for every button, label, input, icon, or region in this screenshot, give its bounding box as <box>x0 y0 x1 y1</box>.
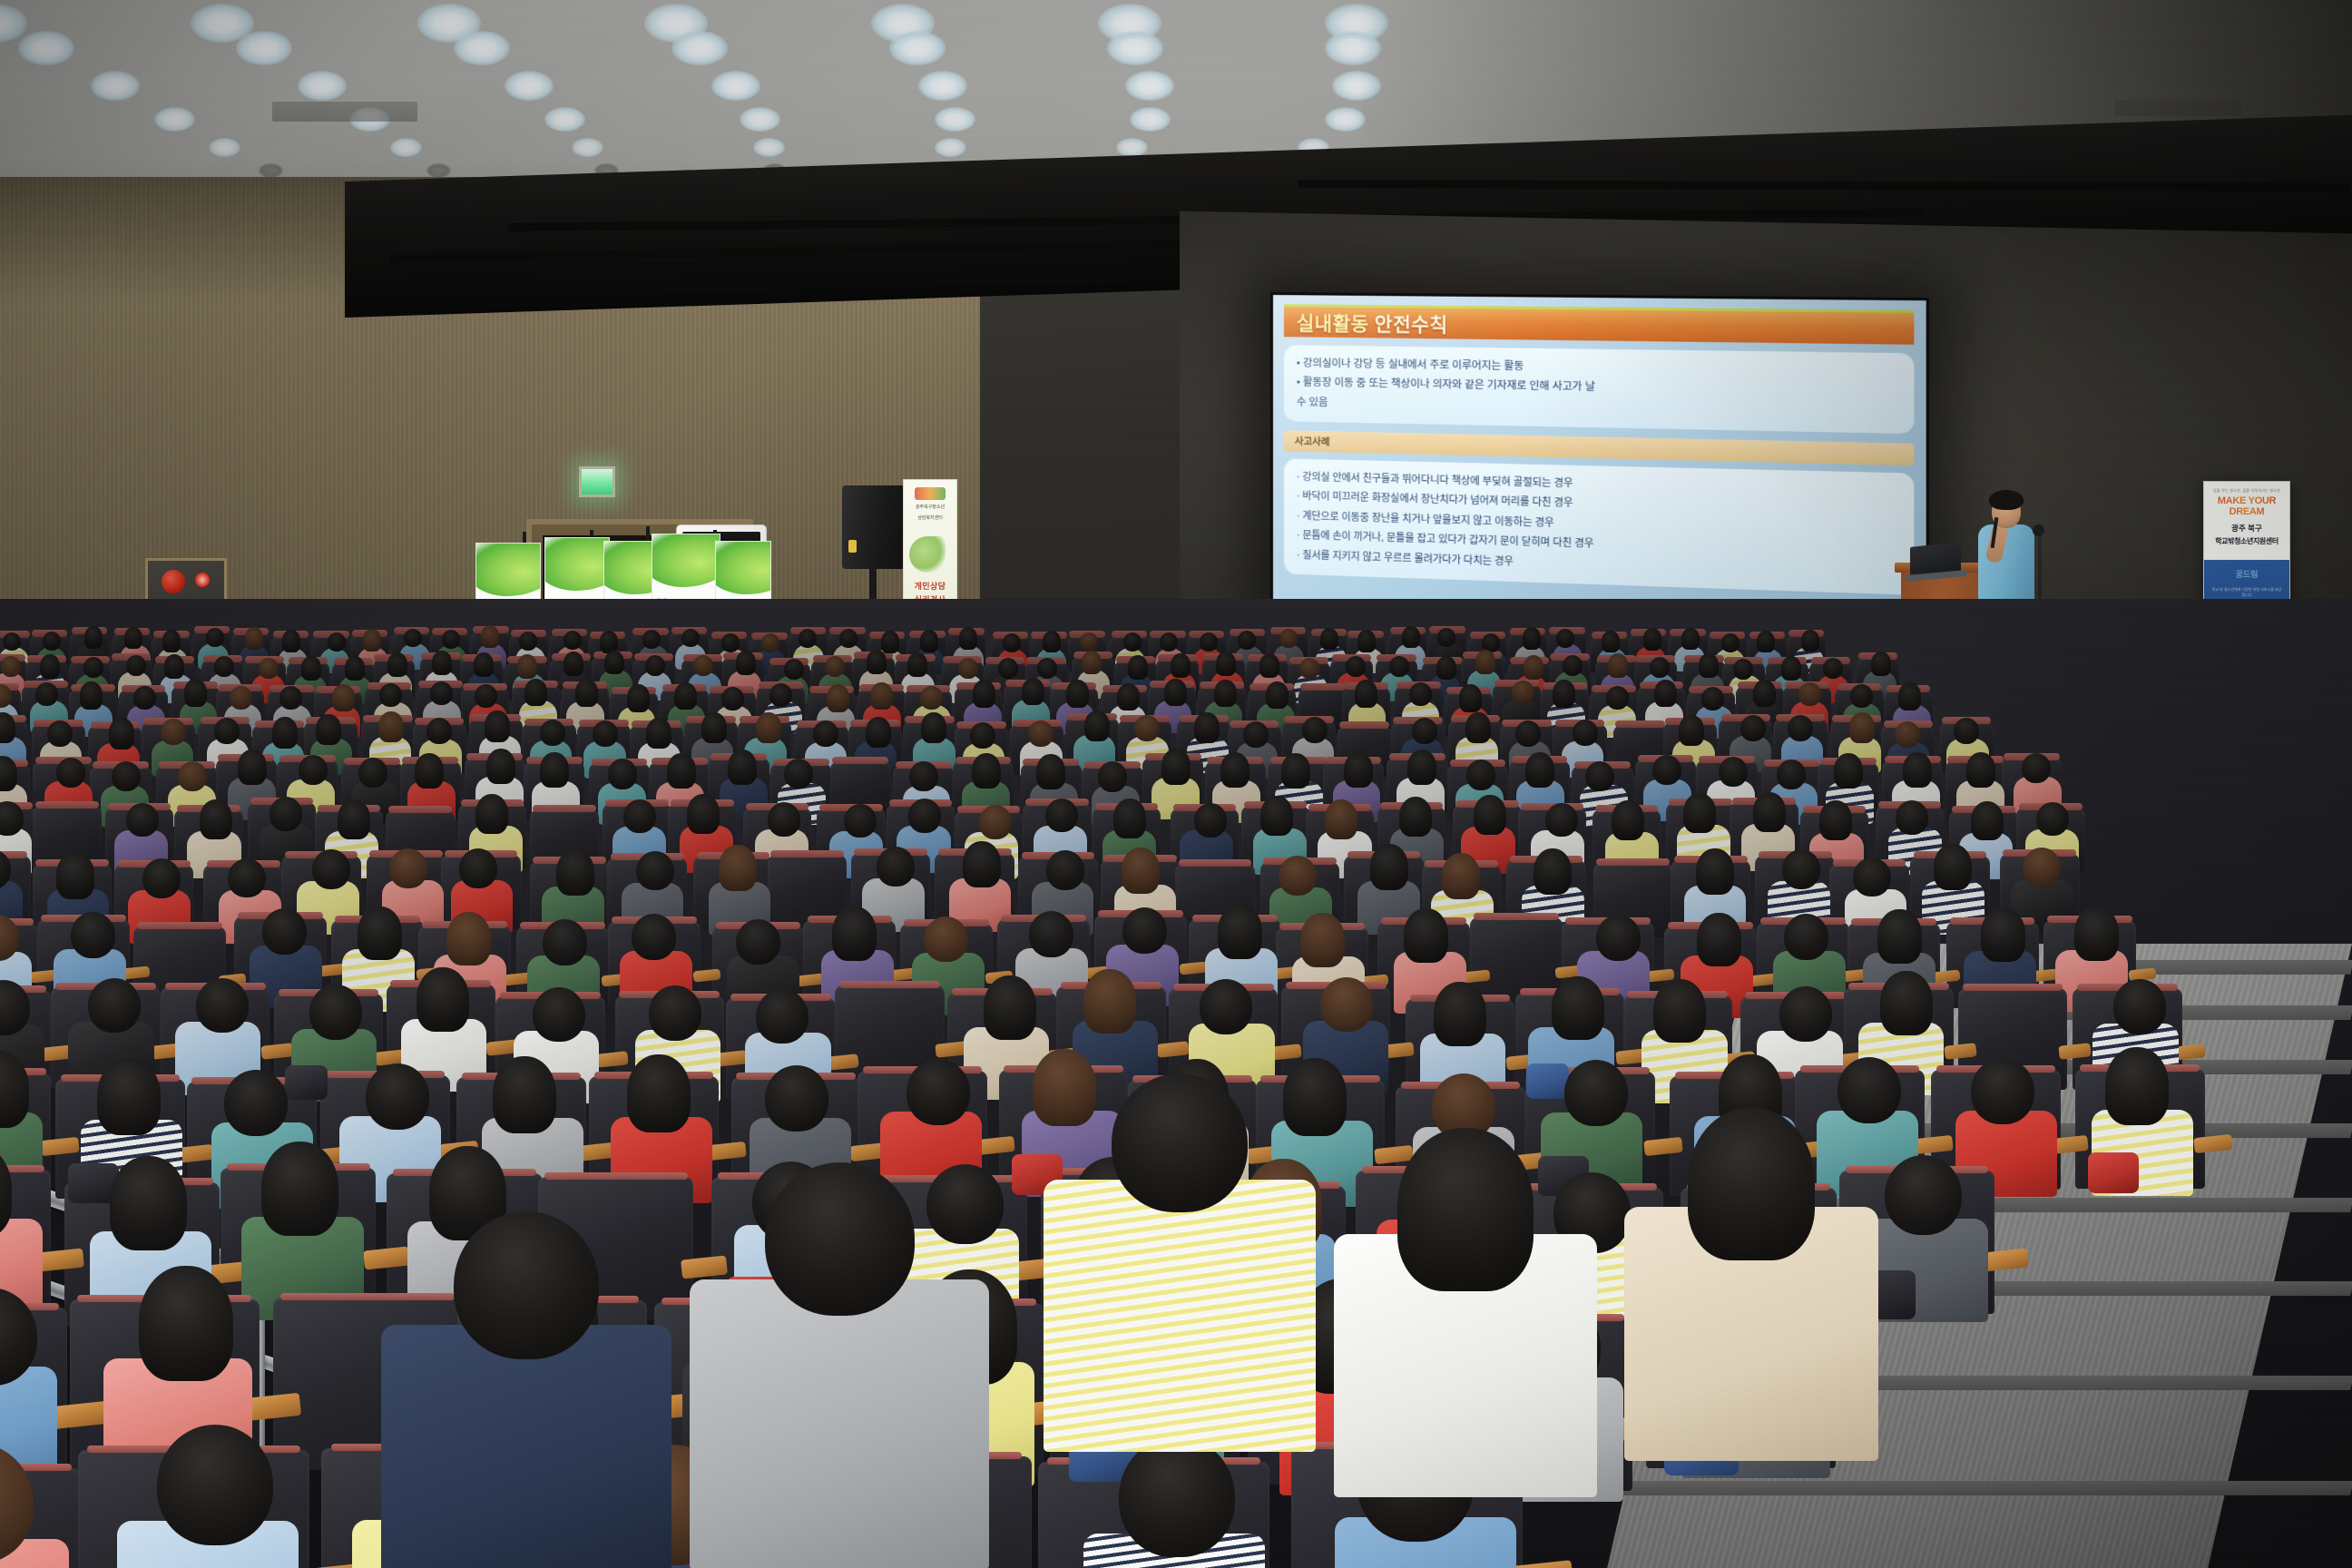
ceiling-light <box>236 31 292 65</box>
audience-member-head <box>972 753 1001 789</box>
banner-tagline: 꿈을 꾸는 청소년, 꿈을 이루어가는 청소년 <box>2204 488 2289 494</box>
microphone-head-icon <box>2033 524 2044 536</box>
audience-member-head <box>378 711 404 742</box>
audience-member-head <box>1243 721 1269 748</box>
banner-header-section: 꿈을 꾸는 청소년, 꿈을 이루어가는 청소년 MAKE YOUR DREAM … <box>2204 482 2289 560</box>
fire-strobe-light-icon <box>195 573 210 587</box>
audience-member-head <box>674 682 697 710</box>
audience-member-head <box>1082 651 1102 675</box>
audience-member-head <box>1585 761 1614 791</box>
audience-member-head <box>1066 680 1089 708</box>
audience-member-head <box>1404 908 1448 963</box>
audience-member-head <box>1098 761 1127 791</box>
audience-member-head <box>245 627 263 649</box>
audience-member-head <box>1819 800 1852 840</box>
audience-member-head <box>627 1054 691 1132</box>
presenter-hair <box>1989 490 2024 510</box>
audience-member-head <box>1080 632 1098 652</box>
audience-member-head <box>1128 655 1148 680</box>
ceiling-light <box>298 71 347 101</box>
audience-member-head <box>907 652 927 677</box>
audience-member-head <box>563 652 583 676</box>
fire-bell-icon <box>162 570 185 593</box>
audience-member-head <box>1171 653 1191 678</box>
audience-member-head <box>627 684 650 712</box>
audience-member-head <box>1281 753 1310 789</box>
audience-member-head <box>1355 680 1377 708</box>
audience-member-head <box>56 852 94 898</box>
audience-member-head <box>877 847 915 887</box>
audience-member-head <box>1733 659 1753 680</box>
audience-member-head <box>1895 721 1920 748</box>
banner-org-line2: 상담복지센터 <box>908 515 952 522</box>
banner-description: 학교 밖 청소년에게 다양한 지원 서비스를 제공합니다 <box>2211 587 2282 599</box>
audience-member-head <box>1534 848 1572 895</box>
audience-member-head <box>1164 679 1187 707</box>
audience-member-head <box>1123 632 1142 652</box>
audience-member-head <box>921 712 946 743</box>
audience-member-head <box>1320 977 1373 1032</box>
audience-member-head <box>404 629 422 648</box>
audience-member-head <box>345 656 365 681</box>
audience-member-head <box>1412 718 1437 744</box>
ceiling-light <box>544 107 585 132</box>
audience-member-head <box>184 679 207 707</box>
audience-member-head <box>1552 976 1604 1041</box>
front-student-navy-head <box>454 1211 599 1359</box>
banner-org-line1: 광주 북구 <box>2204 523 2289 534</box>
banner-swoosh-graphic <box>475 543 541 596</box>
audience-member-head <box>2113 979 2166 1034</box>
front-student-gray-head <box>765 1162 915 1315</box>
audience-member-head <box>533 987 585 1042</box>
audience-member-head <box>825 656 845 677</box>
audience-member-head <box>1344 752 1373 788</box>
audience-member-head <box>1683 793 1716 833</box>
audience-member-head <box>206 628 224 647</box>
audience-member-head <box>485 710 510 741</box>
banner-logo-icon <box>915 487 946 500</box>
banner-service-item: 개인상담 <box>904 580 956 593</box>
audience-member-head <box>1784 914 1828 960</box>
projection-screen: 실내활동 안전수칙 • 강의실이나 강당 등 실내에서 주로 이루어지는 활동 … <box>1270 292 1929 639</box>
audience-member-head <box>481 625 499 647</box>
audience-member-head <box>1216 652 1236 676</box>
audience-member-head <box>1545 803 1578 837</box>
banner-section-title: 꿈드림 <box>2211 569 2282 582</box>
audience-member-head <box>2023 848 2061 887</box>
audience-member-head <box>493 1056 556 1133</box>
audience-member-head <box>881 631 899 652</box>
audience-member-head <box>1220 752 1249 788</box>
audience-member-head <box>363 629 381 651</box>
audience-member-head <box>1971 1058 2034 1124</box>
ceiling-light <box>935 107 975 132</box>
audience-member-head <box>161 719 186 745</box>
audience-member-head <box>2022 753 2051 783</box>
audience-member-head <box>164 654 184 679</box>
audience-member-head <box>1320 628 1338 650</box>
front-student-striped-torso <box>1044 1180 1316 1452</box>
audience-member-head <box>1161 749 1191 784</box>
audience-member-head <box>1299 658 1319 679</box>
banner-swoosh-graphic <box>715 541 771 594</box>
banner-org-line2: 학교밖청소년지원센터 <box>2204 536 2289 546</box>
audience-member-head <box>906 1059 970 1125</box>
audience-member-head <box>728 750 757 785</box>
banner-swoosh-graphic <box>603 541 656 594</box>
audience-member-head <box>984 975 1036 1040</box>
audience-member-head <box>687 794 720 834</box>
audience-member-head <box>1981 907 2025 962</box>
audience-member-head <box>832 906 877 961</box>
audience-member-head <box>84 626 103 648</box>
front-student-gray-torso <box>690 1279 989 1568</box>
audience-member-head <box>379 683 402 707</box>
ceiling-light <box>1125 71 1174 101</box>
audience-member-head <box>272 717 298 748</box>
audience-member-head <box>43 632 61 651</box>
ceiling-light <box>505 71 554 101</box>
audience-member-head <box>224 1070 288 1136</box>
audience-member-head <box>1402 626 1420 648</box>
audience-member-head <box>540 720 565 746</box>
slide-subheader-label: 사고사례 <box>1295 434 1330 448</box>
audience-member-head <box>332 684 355 712</box>
audience-member-head <box>813 720 838 747</box>
audience-member-head <box>1122 848 1160 894</box>
audience-member-head <box>1119 1436 1235 1557</box>
audience-member-head <box>1801 630 1819 652</box>
audience-member-head <box>1134 715 1160 741</box>
audience-member-head <box>200 799 232 839</box>
slide-intro-card: • 강의실이나 강당 등 실내에서 주로 이루어지는 활동 • 활동장 이동 중… <box>1284 345 1914 434</box>
auditorium-scene: 실내활동 안전수칙 • 강의실이나 강당 등 실내에서 주로 이루어지는 활동 … <box>0 0 2352 1568</box>
audience-member-head <box>1697 913 1741 967</box>
audience-member-head <box>979 805 1012 838</box>
audience-member-head <box>649 985 701 1040</box>
slide-title: 실내활동 안전수칙 <box>1297 309 1448 338</box>
audience-member-head <box>924 916 968 963</box>
audience-member-head <box>519 632 537 651</box>
audience-member-head <box>162 630 181 652</box>
audience-member-head <box>1029 911 1073 957</box>
audience-member-head <box>1459 684 1482 712</box>
audience-member-head <box>926 1164 1004 1244</box>
audience-member-head <box>721 633 740 652</box>
audience-member-head <box>133 686 156 710</box>
speaker-led-icon <box>848 540 857 553</box>
audience-member-head <box>1442 853 1480 899</box>
audience-member-head <box>1652 755 1681 785</box>
audience-member-head <box>1214 680 1237 708</box>
audience-member-head <box>736 919 780 965</box>
audience-member-head <box>1954 718 1979 744</box>
audience-member-head <box>623 799 656 833</box>
audience-member-head <box>1475 650 1495 674</box>
audience-member-head <box>604 651 624 675</box>
audience-member-head <box>1850 684 1873 708</box>
audience-member-head <box>446 912 491 966</box>
audience-member-head <box>1434 982 1486 1046</box>
audience-member-head <box>1556 629 1574 648</box>
audience-member-head <box>1043 631 1061 652</box>
audience-member-head <box>1681 628 1700 650</box>
audience-member-head <box>870 682 893 710</box>
audience-member-head <box>756 712 781 743</box>
audience-member-head <box>230 686 252 710</box>
audience-member-head <box>301 656 321 681</box>
audience-member-head <box>1200 979 1252 1034</box>
audience-member-head <box>312 849 350 889</box>
audience-member-head <box>124 627 142 649</box>
audience-member-head <box>83 657 103 678</box>
backpack <box>1526 1063 1569 1098</box>
audience-member-head <box>1083 969 1136 1034</box>
audience-member-head <box>1880 971 1933 1035</box>
audience-member-head <box>1903 752 1932 788</box>
audience-member-head <box>142 858 181 898</box>
audience-member-head <box>1474 795 1506 835</box>
audience-member-head <box>430 681 453 705</box>
audience-member-head <box>299 755 328 785</box>
audience-member-head <box>1117 683 1140 711</box>
audience-member-head <box>958 658 978 679</box>
audience-member-head <box>1608 653 1628 678</box>
audience-member-head <box>1389 656 1409 677</box>
audience-member-head <box>1643 628 1661 650</box>
audience-member-head <box>1409 682 1432 706</box>
audience-member-head <box>1512 681 1534 704</box>
audience-member-head <box>970 722 995 749</box>
pa-speaker <box>842 485 906 569</box>
audience-member-head <box>736 651 756 675</box>
audience-member-head <box>1721 633 1739 652</box>
ceiling-light <box>154 107 195 132</box>
audience-member-head <box>475 684 497 708</box>
audience-member-head <box>524 679 547 707</box>
audience-member-head <box>387 652 407 677</box>
audience-member-head <box>358 758 387 788</box>
audience-member-head <box>867 650 887 674</box>
audience-member-head <box>415 753 444 789</box>
slide-title-bar: 실내활동 안전수칙 <box>1284 304 1914 345</box>
audience-member-head <box>1653 979 1706 1044</box>
audience-member-head <box>56 758 85 788</box>
audience-member-head <box>920 686 943 710</box>
audience-member-head <box>769 683 792 707</box>
audience-member-head <box>1194 803 1227 837</box>
front-student-navy-torso <box>381 1325 671 1568</box>
audience-member-head <box>214 718 240 744</box>
audience-member-head <box>459 848 497 888</box>
audience-member-head <box>973 680 995 708</box>
audience-member-head <box>338 799 370 839</box>
audience-member-head <box>1753 680 1776 708</box>
banner-swoosh-graphic <box>652 534 720 587</box>
leaf-icon <box>909 536 946 573</box>
audience-member-head <box>1407 750 1436 785</box>
audience-member-head <box>1564 1060 1628 1126</box>
audience-member-head <box>1898 682 1921 710</box>
audience-member-head <box>1699 653 1719 678</box>
audience-member-head <box>1046 850 1084 890</box>
audience-member-head <box>328 632 346 652</box>
audience-member-head <box>1037 658 1057 679</box>
front-student-white-head <box>1397 1128 1534 1291</box>
slide-title-rest: 안전수칙 <box>1369 314 1448 336</box>
audience-member-head <box>80 681 103 710</box>
front-student-striped-head <box>1112 1073 1248 1212</box>
audience-member-head <box>909 761 938 791</box>
audience-member-head <box>540 752 569 788</box>
audience-member-head <box>1779 986 1832 1041</box>
audience-member-head <box>1033 1049 1096 1126</box>
audience-member-head <box>600 631 618 652</box>
audience-member-head <box>768 802 800 836</box>
audience-member-head <box>112 761 141 791</box>
audience-member-head <box>47 720 73 747</box>
audience-member-head <box>1696 848 1734 895</box>
audience-member-head <box>196 978 249 1033</box>
audience-member-head <box>2074 906 2119 961</box>
audience-member-head <box>784 659 804 680</box>
ceiling-light <box>889 31 946 65</box>
audience-member-head <box>608 759 637 789</box>
audience-member-head <box>432 651 452 675</box>
audience-member-head <box>269 797 302 830</box>
audience-member-head <box>1465 712 1491 743</box>
audience-member-head <box>1302 717 1328 743</box>
audience-member-head <box>1194 712 1220 743</box>
audience-member-head <box>1553 680 1575 708</box>
ceiling-light <box>18 31 74 65</box>
audience-member-head <box>97 1058 161 1135</box>
audience-member-head <box>1036 754 1065 789</box>
front-student-cream-head <box>1688 1108 1815 1260</box>
audience-member-head <box>1701 687 1724 710</box>
ceiling-light <box>1107 31 1163 65</box>
audience-member-head <box>1885 1155 1962 1235</box>
audience-member-head <box>2105 1047 2169 1124</box>
audience-member-head <box>1218 905 1262 959</box>
audience-member-head <box>157 1425 273 1545</box>
audience-member-head <box>998 658 1018 679</box>
audience-member-head <box>1757 631 1775 652</box>
audience-member-head <box>358 906 402 961</box>
ceiling-light <box>671 31 728 65</box>
audience-member-head <box>261 1142 338 1236</box>
audience-member-head <box>645 655 665 676</box>
audience-member-head <box>1028 720 1053 747</box>
audience-member-head <box>279 686 302 710</box>
audience-member-head <box>316 714 341 745</box>
audience-member-head <box>1436 656 1456 681</box>
audience-member-head <box>88 978 141 1033</box>
audience-member-head <box>563 631 582 650</box>
audience-member-head <box>1437 628 1455 647</box>
audience-member-head <box>238 750 267 785</box>
audience-member-head <box>35 682 58 706</box>
audience-member-head <box>756 989 808 1044</box>
audience-member-head <box>1853 857 1891 897</box>
audience-member-head <box>1573 720 1598 746</box>
audience-member-head <box>1650 657 1670 678</box>
audience-member-head <box>474 652 494 677</box>
audience-member-head <box>963 841 1001 887</box>
audience-member-head <box>486 749 515 784</box>
audience-member-head <box>71 912 115 958</box>
audience-member-head <box>1346 656 1366 677</box>
audience-member-head <box>1563 655 1583 676</box>
audience-member-head <box>1399 797 1432 837</box>
audience-member-head <box>827 684 849 712</box>
audience-member-head <box>543 919 587 965</box>
aisle-step-edge <box>1568 1481 2352 1495</box>
audience-member-head <box>214 656 234 677</box>
audience-member-head <box>784 759 813 789</box>
audience-member-head <box>1753 792 1786 832</box>
audience-member-head <box>1971 801 2004 841</box>
audience-member-head <box>1266 681 1289 710</box>
banner-swoosh-graphic <box>544 537 610 591</box>
audience-member-head <box>667 753 696 789</box>
audience-member-head <box>282 630 300 652</box>
audience-member-head <box>1781 656 1801 681</box>
banner-headline: MAKE YOUR DREAM <box>2204 495 2289 517</box>
audience-member-head <box>309 985 362 1039</box>
audience-member-head <box>40 654 60 679</box>
audience-member-head <box>1524 655 1543 680</box>
audience-member-head <box>866 717 891 748</box>
audience-member-head <box>1 656 21 677</box>
audience-member-head <box>109 718 134 749</box>
audience-member-head <box>632 914 676 960</box>
audience-member-head <box>1798 682 1821 706</box>
ceiling-light <box>454 31 510 65</box>
audience-member-head <box>908 799 941 832</box>
audience-member-head <box>1849 712 1875 743</box>
audience-member-head <box>556 849 594 896</box>
audience-member-head <box>1113 799 1146 838</box>
audience-member-head <box>1896 800 1928 834</box>
audience-member-head <box>517 654 537 679</box>
slide-cases-card: · 강의실 안에서 친구들과 뛰어다니다 책상에 부딪혀 골절되는 경우 · 바… <box>1284 458 1914 595</box>
audience-member-head <box>1370 844 1408 890</box>
audience-member-head <box>1654 680 1677 708</box>
audience-member-head <box>389 848 427 888</box>
audience-member-head <box>1260 796 1293 836</box>
audience-member-head <box>1122 907 1167 954</box>
audience-member-head <box>442 630 460 649</box>
audience-member-head <box>844 804 877 838</box>
audience-member-head <box>1834 753 1863 789</box>
audience-member-head <box>636 851 674 891</box>
audience-member-head <box>1357 630 1376 652</box>
audience-member-head <box>1823 658 1843 679</box>
banner-org-line1: 광주북구청소년 <box>908 505 952 511</box>
ceiling-light <box>1130 107 1171 132</box>
ceiling-light <box>1325 107 1366 132</box>
audience-member-head <box>228 858 266 898</box>
audience-member-head <box>1084 710 1110 741</box>
audience-member-head <box>1300 913 1345 967</box>
audience-member-head <box>1279 629 1298 648</box>
ceiling-light <box>91 71 140 101</box>
audience-member-head <box>1966 752 1995 788</box>
exit-sign-icon <box>579 466 615 497</box>
audience-member-head <box>593 720 618 747</box>
